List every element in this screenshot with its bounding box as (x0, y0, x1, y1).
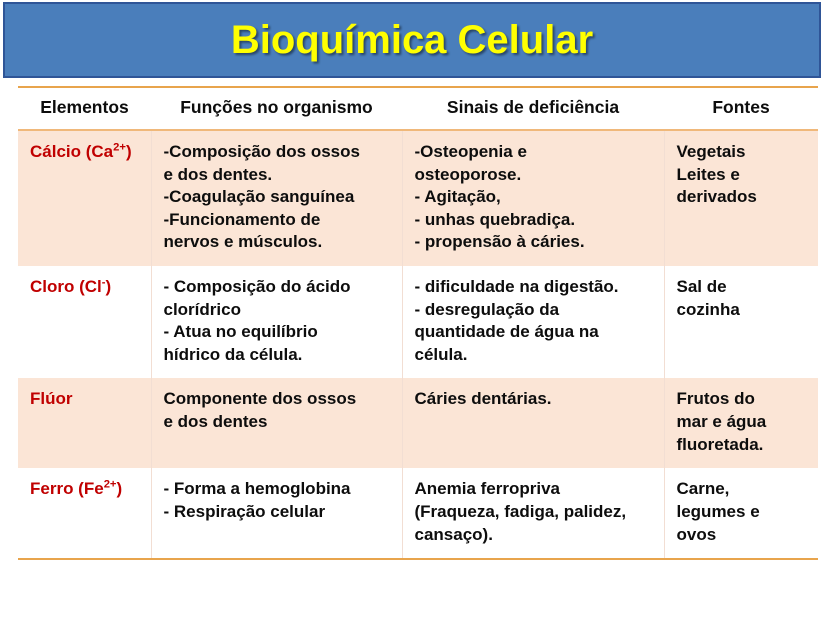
cell-functions: - Forma a hemoglobina - Respiração celul… (151, 468, 402, 559)
cell-deficiency: -Osteopenia e osteoporose. - Agitação, -… (402, 130, 664, 266)
table-row: Ferro (Fe2+) - Forma a hemoglobina - Res… (18, 468, 818, 559)
nutrient-elements-table: Elementos Funções no organismo Sinais de… (18, 86, 818, 560)
cell-sources: Frutos do mar e água fluoretada. (664, 378, 818, 468)
element-charge: 2+ (104, 479, 117, 491)
cell-deficiency: - dificuldade na digestão. - desregulaçã… (402, 266, 664, 378)
column-header-funcoes: Funções no organismo (151, 87, 402, 130)
cell-functions: - Composição do ácido clorídrico - Atua … (151, 266, 402, 378)
title-banner: Bioquímica Celular (3, 2, 821, 78)
cell-functions: Componente dos ossos e dos dentes (151, 378, 402, 468)
column-header-fontes: Fontes (664, 87, 818, 130)
column-header-elementos: Elementos (18, 87, 151, 130)
element-name-tail: ) (106, 277, 112, 296)
table-body: Cálcio (Ca2+) -Composição dos ossos e do… (18, 130, 818, 559)
element-label-calcio: Cálcio (Ca2+) (30, 142, 132, 161)
element-charge: 2+ (113, 141, 126, 153)
cell-deficiency: Cáries dentárias. (402, 378, 664, 468)
cell-element-name: Ferro (Fe2+) (18, 468, 151, 559)
table-row: Cálcio (Ca2+) -Composição dos ossos e do… (18, 130, 818, 266)
cell-sources: Vegetais Leites e derivados (664, 130, 818, 266)
table-row: Flúor Componente dos ossos e dos dentes … (18, 378, 818, 468)
element-label-ferro: Ferro (Fe2+) (30, 479, 122, 498)
cell-element-name: Flúor (18, 378, 151, 468)
cell-functions: -Composição dos ossos e dos dentes. -Coa… (151, 130, 402, 266)
table-header: Elementos Funções no organismo Sinais de… (18, 87, 818, 130)
cell-element-name: Cálcio (Ca2+) (18, 130, 151, 266)
element-label-cloro: Cloro (Cl-) (30, 277, 111, 296)
page-title: Bioquímica Celular (231, 18, 593, 63)
element-name-tail: ) (116, 479, 122, 498)
element-name-text: Flúor (30, 389, 73, 408)
cell-deficiency: Anemia ferropriva (Fraqueza, fadiga, pal… (402, 468, 664, 559)
cell-sources: Carne, legumes e ovos (664, 468, 818, 559)
element-name-text: Cálcio (Ca (30, 142, 113, 161)
cell-element-name: Cloro (Cl-) (18, 266, 151, 378)
element-name-text: Ferro (Fe (30, 479, 104, 498)
element-name-tail: ) (126, 142, 132, 161)
cell-sources: Sal de cozinha (664, 266, 818, 378)
element-label-fluor: Flúor (30, 389, 73, 408)
table-row: Cloro (Cl-) - Composição do ácido cloríd… (18, 266, 818, 378)
element-name-text: Cloro (Cl (30, 277, 102, 296)
table-header-row: Elementos Funções no organismo Sinais de… (18, 87, 818, 130)
column-header-sinais: Sinais de deficiência (402, 87, 664, 130)
